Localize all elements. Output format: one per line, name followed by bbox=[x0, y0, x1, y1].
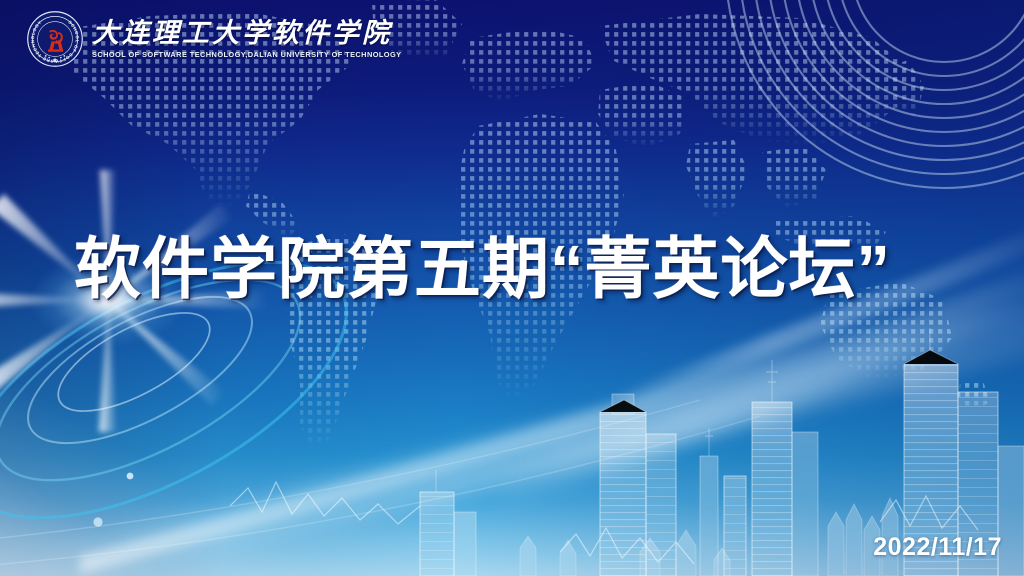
slide-date: 2022/11/17 bbox=[873, 533, 1002, 562]
university-seal-icon: SCHOOL OF SOFTWARE TECHNOLOGY bbox=[26, 10, 84, 68]
university-name-cn: 大连理工大学软件学院 bbox=[92, 19, 402, 48]
slide-title: 软件学院第五期“菁英论坛” bbox=[74, 236, 891, 303]
university-name-group: 大连理工大学软件学院 SCHOOL OF SOFTWARE TECHNOLOGY… bbox=[92, 19, 402, 59]
title-slide: SCHOOL OF SOFTWARE TECHNOLOGY 大连理工大学软件学院… bbox=[0, 0, 1024, 576]
university-name-en: SCHOOL OF SOFTWARE TECHNOLOGY,DALIAN UNI… bbox=[92, 51, 402, 58]
university-logo-block: SCHOOL OF SOFTWARE TECHNOLOGY 大连理工大学软件学院… bbox=[26, 8, 402, 70]
